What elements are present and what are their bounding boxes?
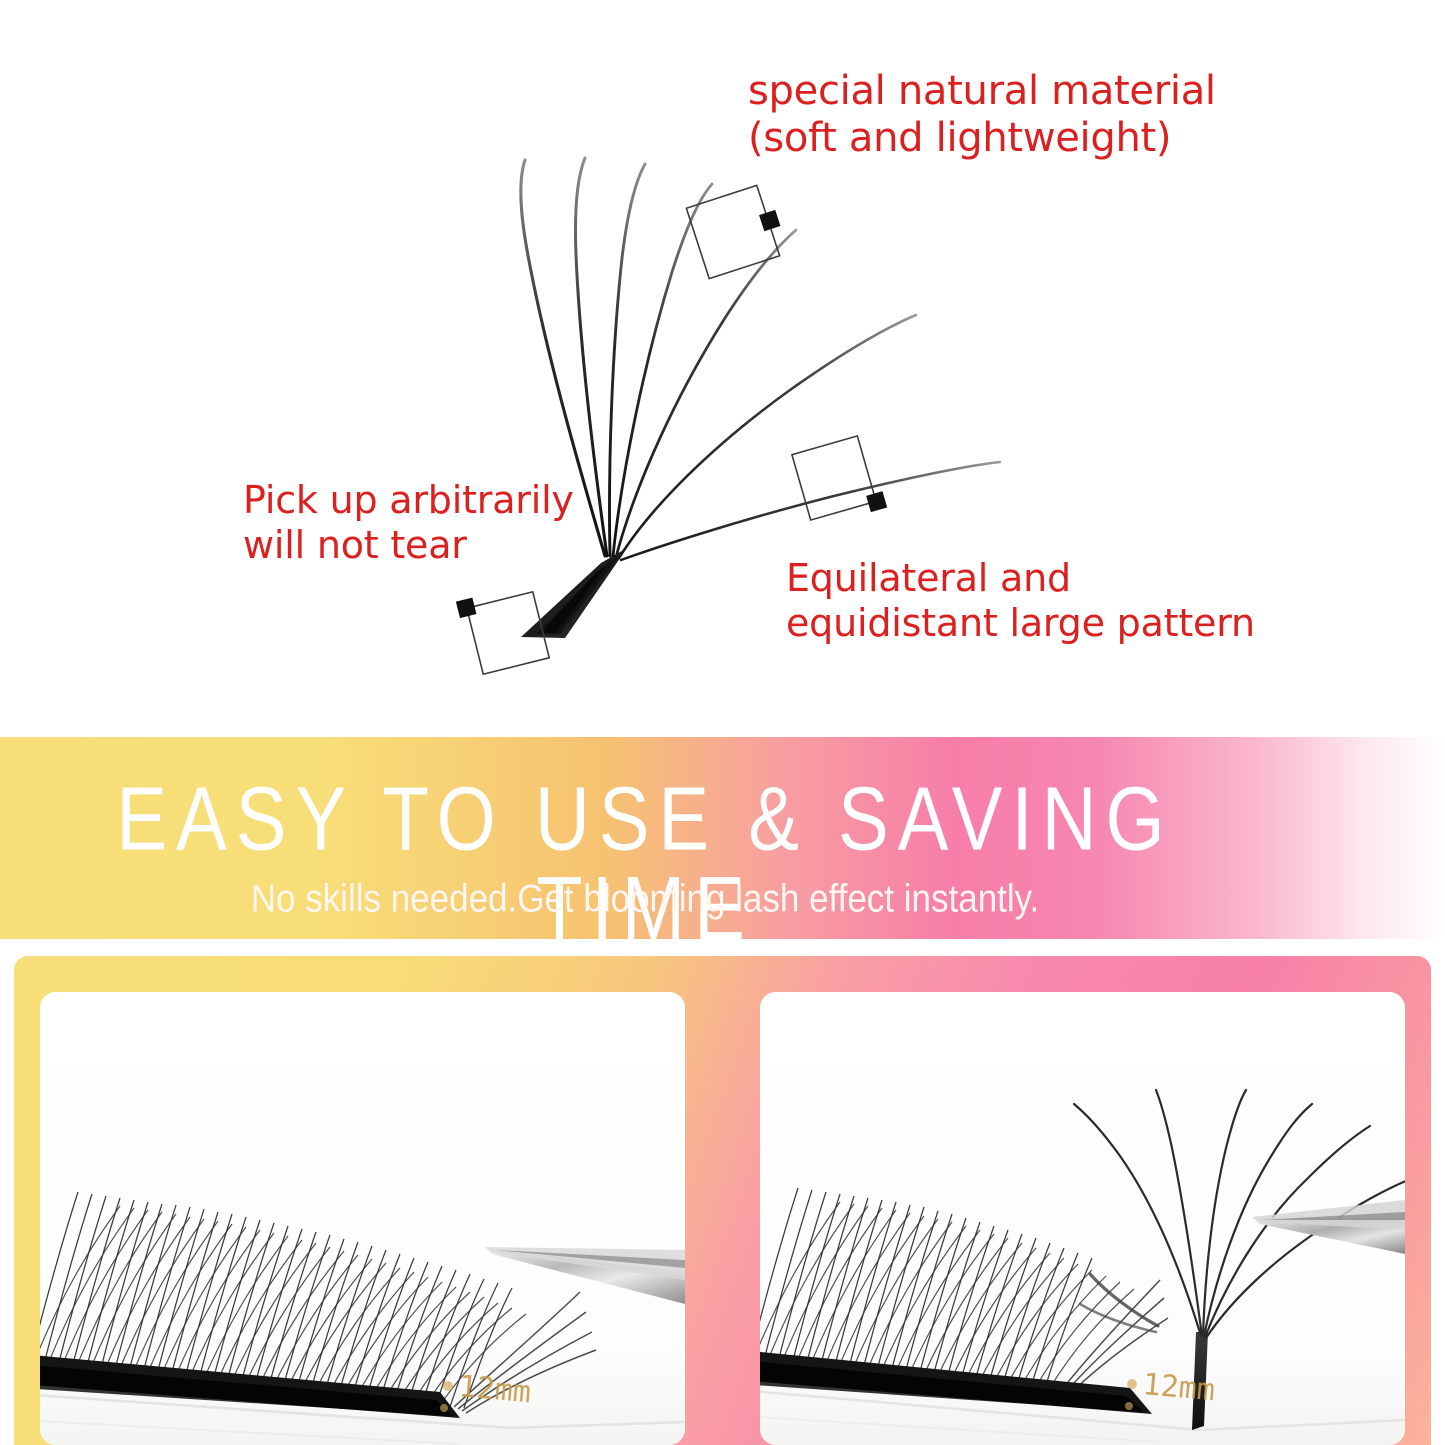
tray-size-label-left: 12mm <box>457 1369 532 1410</box>
hero-section: special natural material (soft and light… <box>0 0 1445 737</box>
callout-pick-up: Pick up arbitrarily will not tear <box>243 478 574 568</box>
photo-card-lash-tray[interactable]: 12mm <box>40 992 685 1445</box>
callout-pattern: Equilateral and equidistant large patter… <box>786 556 1255 646</box>
lash-tray-photo: 12mm <box>40 992 685 1445</box>
photo-card-lash-pickup[interactable]: 12mm <box>760 992 1405 1445</box>
callout-material: special natural material (soft and light… <box>748 68 1216 162</box>
tray-size-label-right: 12mm <box>1141 1367 1216 1408</box>
lash-pickup-photo: 12mm <box>760 992 1405 1445</box>
headline-banner-inner: EASY TO USE & SAVING TIME No skills need… <box>0 737 1290 939</box>
selection-marker-right[interactable] <box>792 433 887 528</box>
banner-subtitle: No skills needed.Get blooming lash effec… <box>0 879 1290 918</box>
banner-gallery-divider <box>0 939 1445 956</box>
photo-gallery: 12mm <box>14 956 1431 1445</box>
headline-banner: EASY TO USE & SAVING TIME No skills need… <box>0 737 1445 939</box>
